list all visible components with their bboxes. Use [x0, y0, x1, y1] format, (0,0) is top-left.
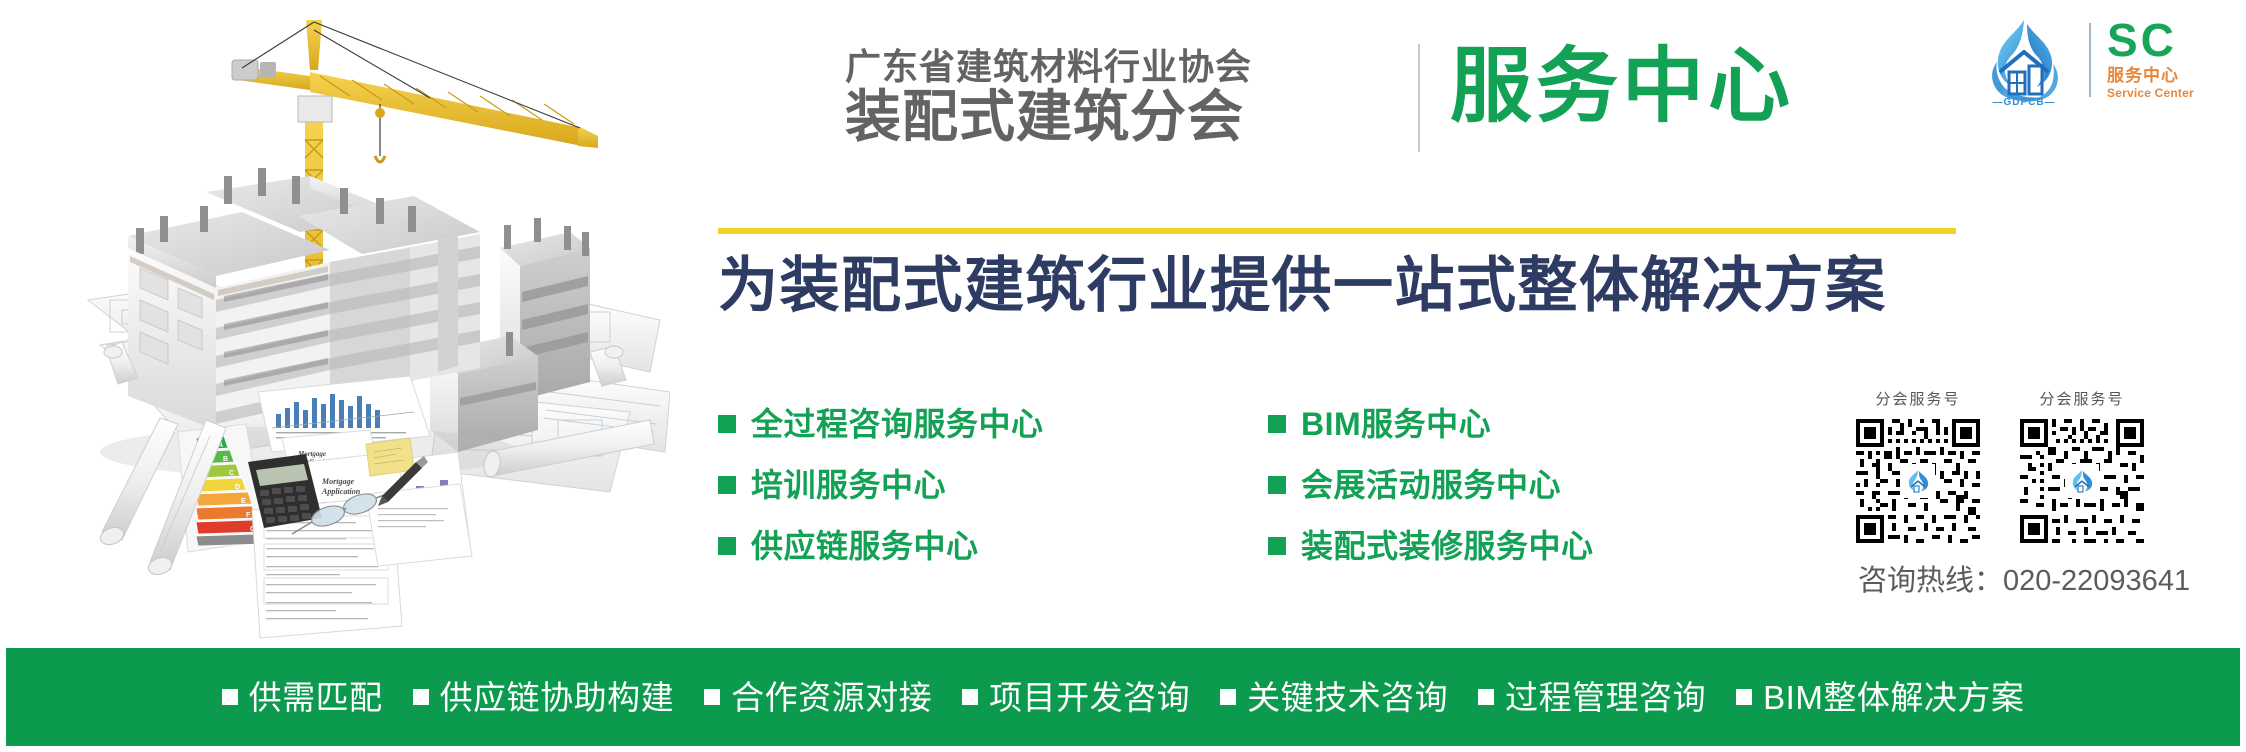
svg-text:E: E: [241, 498, 246, 505]
association-title-block: 广东省建筑材料行业协会 装配式建筑分会: [845, 48, 1265, 145]
qr-cell: 分会服务号: [2016, 388, 2148, 547]
bullet-square-icon: [1268, 476, 1286, 494]
bottom-feature-bar: 供需匹配 供应链协助构建 合作资源对接 项目开发咨询 关键技术咨询 过程管理咨询…: [6, 648, 2240, 746]
feature-label: BIM整体解决方案: [1763, 681, 2024, 714]
logo-text-block: SC 服务中心 Service Center: [2107, 19, 2194, 100]
logo-abbr: SC: [2107, 19, 2194, 63]
title-divider: [1418, 44, 1420, 152]
bullet-square-icon: [718, 415, 736, 433]
qr-code-icon[interactable]: [2016, 415, 2148, 547]
qr-cell: 分会服务号: [1852, 388, 1984, 547]
service-label: 供应链服务中心: [751, 530, 979, 562]
bullet-square-icon: [704, 689, 720, 705]
association-name: 广东省建筑材料行业协会: [845, 48, 1265, 87]
bullet-square-icon: [1268, 537, 1286, 555]
qr-caption: 分会服务号: [1852, 388, 1984, 409]
vertical-divider: [2089, 23, 2091, 97]
headline: 为装配式建筑行业提供一站式整体解决方案: [718, 253, 1887, 319]
feature-label: 供应链协助构建: [440, 681, 675, 714]
list-item[interactable]: 供需匹配: [222, 681, 383, 714]
logo-mark-code: —GDPCB—: [1975, 97, 2073, 108]
qr-code-icon[interactable]: [1852, 415, 1984, 547]
list-item[interactable]: BIM服务中心: [1268, 408, 1594, 440]
svg-text:C: C: [229, 470, 234, 477]
svg-text:F: F: [246, 512, 251, 519]
logo-en-label: Service Center: [2107, 86, 2194, 100]
feature-label: 过程管理咨询: [1505, 681, 1706, 714]
bullet-square-icon: [1478, 689, 1494, 705]
qr-block: 分会服务号: [1852, 388, 2220, 599]
bullet-square-icon: [1268, 415, 1286, 433]
bullet-square-icon: [1736, 689, 1752, 705]
list-item[interactable]: 培训服务中心: [718, 469, 1138, 501]
qr-row: 分会服务号: [1852, 388, 2220, 547]
svg-text:Application: Application: [321, 487, 361, 496]
bullet-square-icon: [718, 476, 736, 494]
list-item[interactable]: 合作资源对接: [704, 681, 932, 714]
bullet-square-icon: [1220, 689, 1236, 705]
bullet-square-icon: [718, 537, 736, 555]
list-item[interactable]: 供应链服务中心: [718, 530, 1138, 562]
list-item[interactable]: 过程管理咨询: [1478, 681, 1706, 714]
service-label: 培训服务中心: [751, 469, 946, 501]
accent-rule: [718, 228, 1956, 234]
svg-text:D: D: [235, 484, 240, 491]
feature-label: 供需匹配: [249, 681, 383, 714]
service-label: 会展活动服务中心: [1301, 469, 1561, 501]
service-column-right: BIM服务中心 会展活动服务中心 装配式装修服务中心: [1268, 408, 1594, 562]
qr-caption: 分会服务号: [2016, 388, 2148, 409]
hotline-text: 咨询热线：020-22093641: [1852, 557, 2220, 599]
service-label: BIM服务中心: [1301, 408, 1491, 440]
flame-house-icon: —GDPCB—: [1975, 14, 2073, 106]
bullet-square-icon: [222, 689, 238, 705]
service-label: 装配式装修服务中心: [1301, 530, 1594, 562]
construction-site-illustration: ABC DEF GH: [10, 0, 670, 645]
qr-center-logo-icon: [2065, 464, 2099, 498]
list-item[interactable]: 供应链协助构建: [413, 681, 675, 714]
logo-cn-label: 服务中心: [2107, 65, 2194, 86]
list-item[interactable]: 关键技术咨询: [1220, 681, 1448, 714]
bullet-square-icon: [962, 689, 978, 705]
bullet-square-icon: [413, 689, 429, 705]
logo-block: —GDPCB— SC 服务中心 Service Center: [1975, 14, 2225, 106]
service-label: 全过程咨询服务中心: [751, 408, 1044, 440]
list-item[interactable]: 会展活动服务中心: [1268, 469, 1594, 501]
list-item[interactable]: 装配式装修服务中心: [1268, 530, 1594, 562]
sticky-note: [366, 438, 414, 476]
service-column-left: 全过程咨询服务中心 培训服务中心 供应链服务中心: [718, 408, 1138, 562]
branch-name: 装配式建筑分会: [845, 89, 1265, 145]
svg-text:B: B: [223, 456, 228, 463]
svg-text:Mortgage: Mortgage: [321, 477, 354, 486]
list-item[interactable]: 全过程咨询服务中心: [718, 408, 1138, 440]
feature-label: 合作资源对接: [731, 681, 932, 714]
feature-label: 关键技术咨询: [1247, 681, 1448, 714]
feature-label: 项目开发咨询: [989, 681, 1190, 714]
list-item[interactable]: BIM整体解决方案: [1736, 681, 2024, 714]
qr-center-logo-icon: [1901, 464, 1935, 498]
service-center-title: 服务中心: [1450, 44, 1794, 130]
service-center-list: 全过程咨询服务中心 培训服务中心 供应链服务中心 BIM服务中心 会展活动服务中…: [718, 408, 1818, 562]
list-item[interactable]: 项目开发咨询: [962, 681, 1190, 714]
promo-banner: ABC DEF GH: [0, 0, 2246, 752]
